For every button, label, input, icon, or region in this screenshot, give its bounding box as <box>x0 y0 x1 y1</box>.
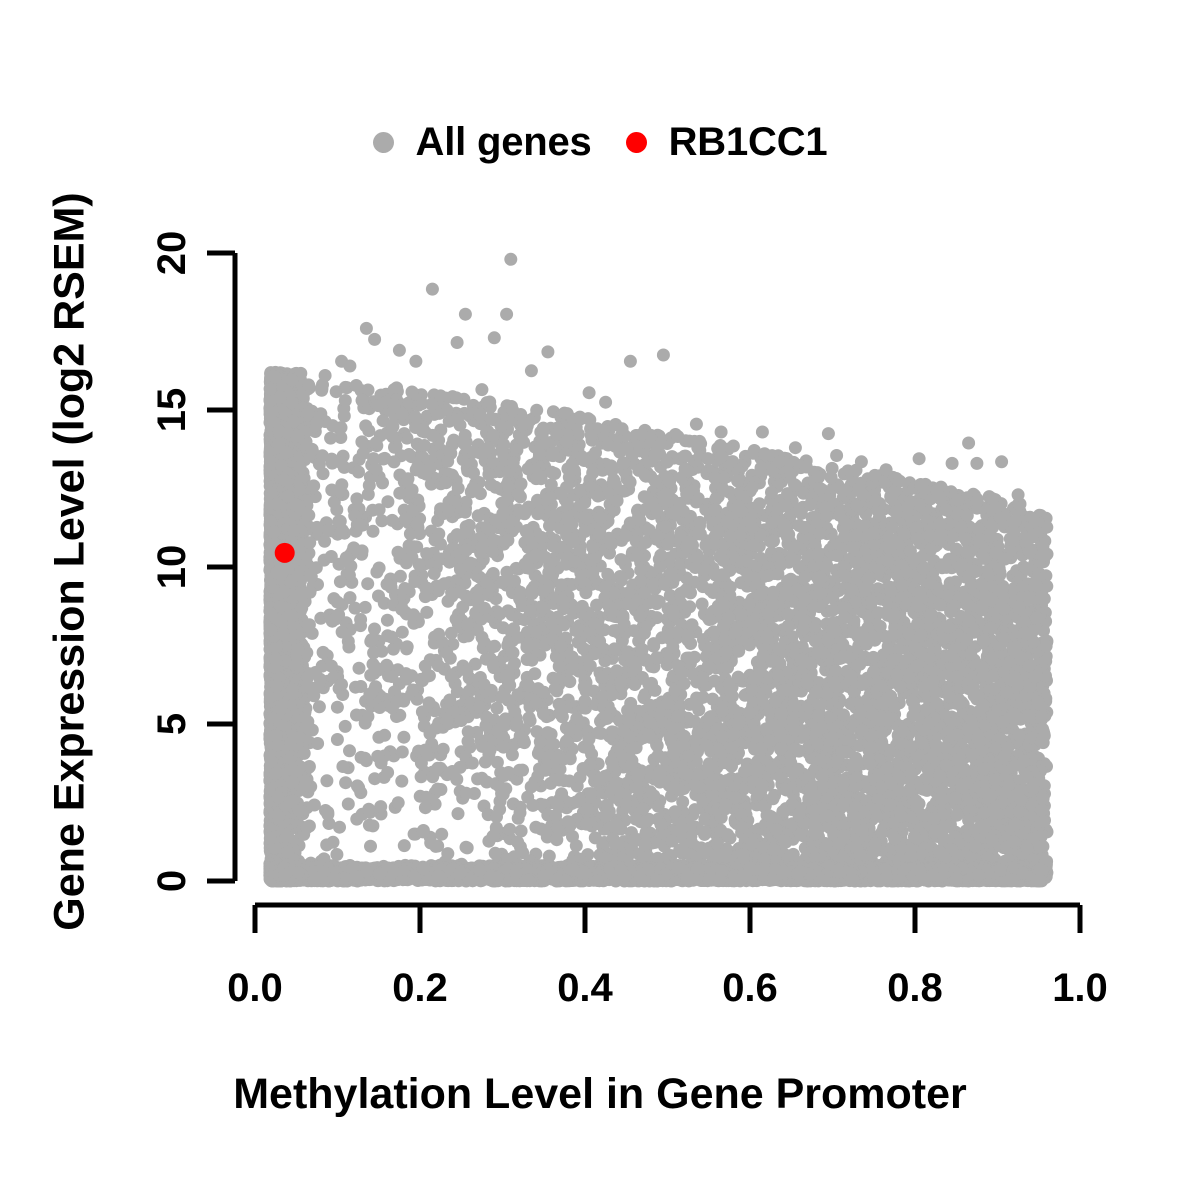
highlighted-gene-point <box>275 543 295 563</box>
x-tick-label: 0.0 <box>175 968 335 1008</box>
x-tick-label: 0.4 <box>505 968 665 1008</box>
data-points-layer <box>263 253 1053 888</box>
y-tick-label: 10 <box>152 507 192 627</box>
y-tick-label: 5 <box>152 664 192 784</box>
y-axis-title: Gene Expression Level (log2 RSEM) <box>49 162 92 962</box>
highlight-point-layer <box>275 543 295 563</box>
plot-area: 05101520 0.00.20.40.60.81.0 Gene Express… <box>0 0 1200 1200</box>
y-tick-label: 15 <box>152 350 192 470</box>
x-tick-label: 0.6 <box>670 968 830 1008</box>
scatter-plot-figure: All genes RB1CC1 05101520 0.00.20.40.60.… <box>0 0 1200 1200</box>
x-tick-label: 0.2 <box>340 968 500 1008</box>
y-tick-label: 0 <box>152 821 192 941</box>
x-tick-label: 1.0 <box>1000 968 1160 1008</box>
x-axis-title: Methylation Level in Gene Promoter <box>0 1073 1200 1116</box>
y-tick-label: 20 <box>152 193 192 313</box>
x-tick-label: 0.8 <box>835 968 995 1008</box>
